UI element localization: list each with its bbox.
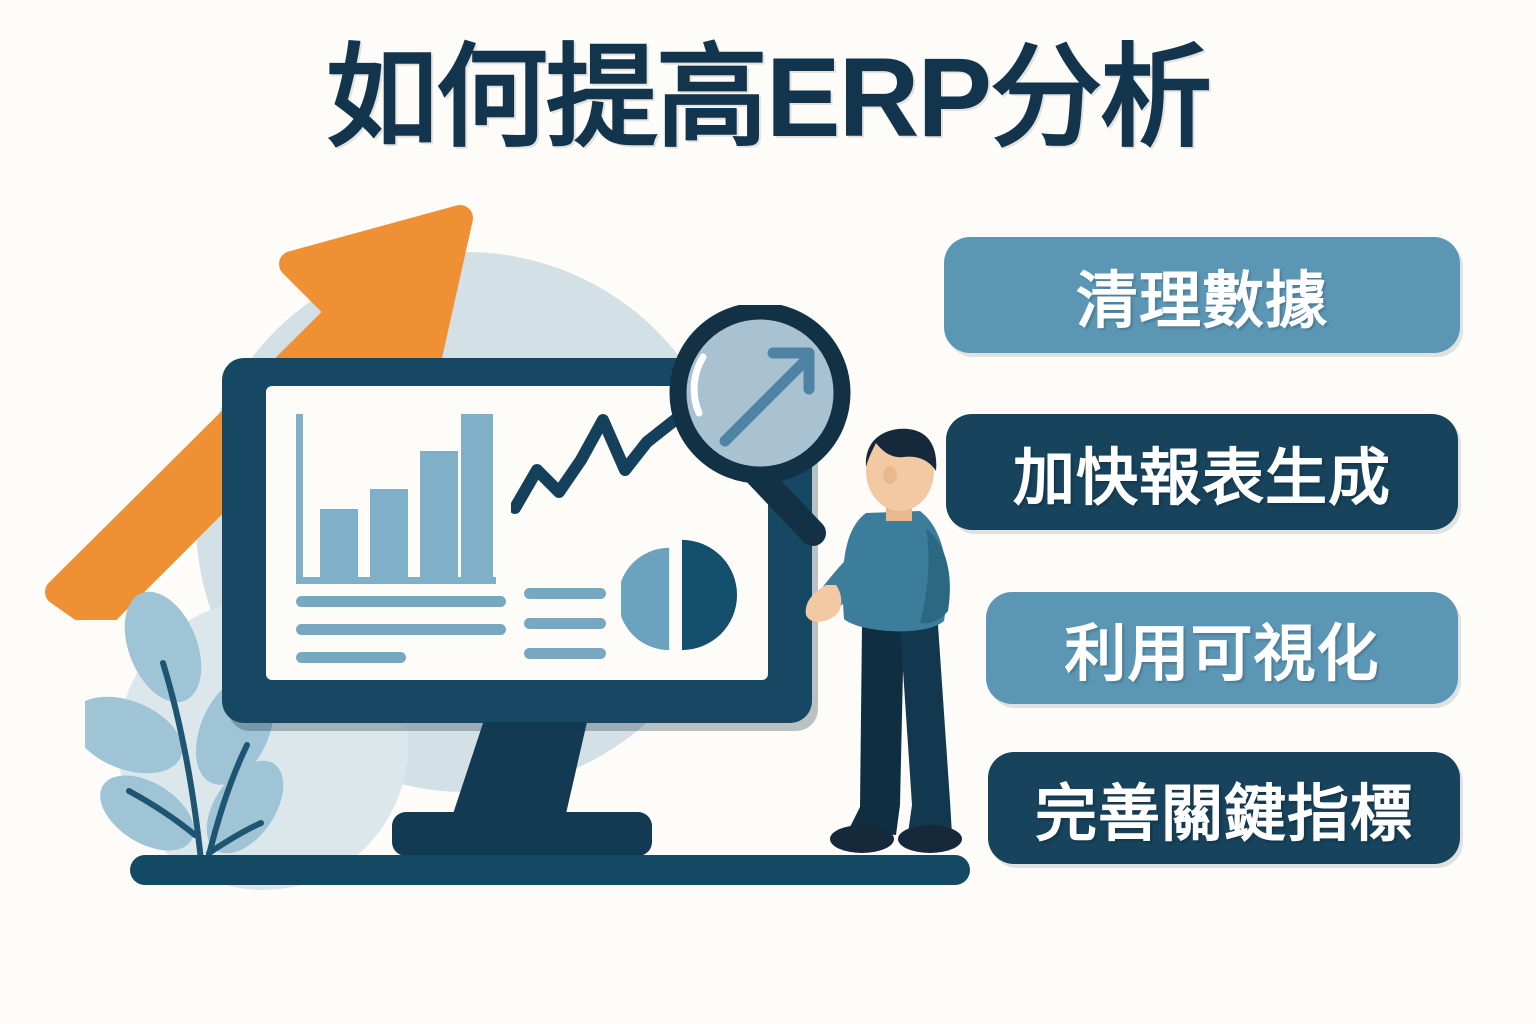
badge-item-clean-data[interactable]: 清理數據: [944, 237, 1460, 353]
badge-list: 清理數據 加快報表生成 利用可視化 完善關鍵指標: [0, 0, 1536, 1024]
infographic-canvas: 如何提高ERP分析: [0, 0, 1536, 1024]
badge-item-use-visualization[interactable]: 利用可視化: [986, 592, 1458, 704]
badge-item-improve-kpis[interactable]: 完善關鍵指標: [988, 752, 1460, 864]
badge-item-faster-reports[interactable]: 加快報表生成: [946, 414, 1458, 530]
